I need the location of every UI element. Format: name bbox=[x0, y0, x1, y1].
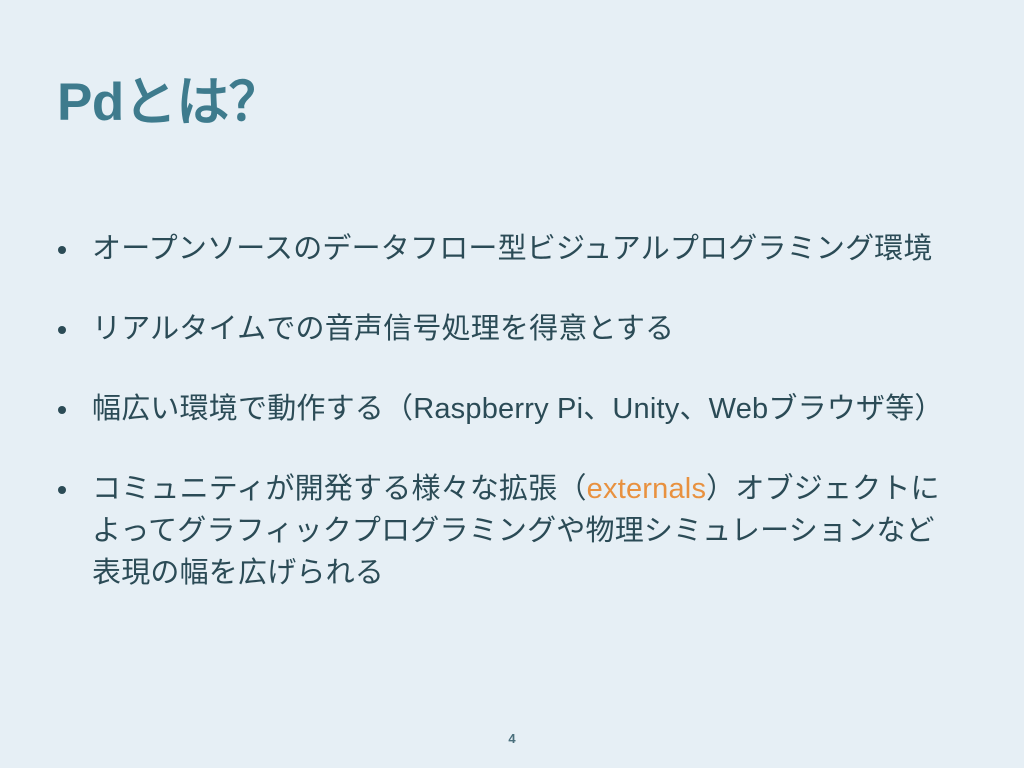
list-item: コミュニティが開発する様々な拡張（externals）オブジェクトに よってグラ… bbox=[50, 468, 980, 594]
bullet-dot-icon bbox=[58, 326, 66, 334]
list-item-line: よってグラフィックプログラミングや物理シミュレーションなど bbox=[92, 510, 980, 552]
bullet-dot-icon bbox=[58, 406, 66, 414]
bullet-list: オープンソースのデータフロー型ビジュアルプログラミング環境 リアルタイムでの音声… bbox=[50, 228, 980, 594]
externals-keyword: externals bbox=[587, 473, 706, 505]
page-title: Pdとは？ bbox=[57, 72, 281, 135]
list-item-text: リアルタイムでの音声信号処理を得意とする bbox=[92, 308, 980, 350]
page-number: 4 bbox=[0, 731, 1024, 746]
bullet-dot-icon bbox=[58, 246, 66, 254]
list-item: 幅広い環境で動作する（Raspberry Pi、Unity、Webブラウザ等） bbox=[50, 388, 980, 430]
list-item-line-pre: コミュニティが開発する様々な拡張（ bbox=[92, 473, 587, 505]
list-item-line: リアルタイムでの音声信号処理を得意とする bbox=[92, 308, 980, 350]
list-item-line: オープンソースのデータフロー型ビジュアルプログラミング環境 bbox=[92, 228, 980, 270]
list-item-text: オープンソースのデータフロー型ビジュアルプログラミング環境 bbox=[92, 228, 980, 270]
list-item: リアルタイムでの音声信号処理を得意とする bbox=[50, 308, 980, 350]
list-item-line: 幅広い環境で動作する（Raspberry Pi、Unity、Webブラウザ等） bbox=[92, 388, 980, 430]
bullet-dot-icon bbox=[58, 486, 66, 494]
list-item-line: 表現の幅を広げられる bbox=[92, 552, 980, 594]
list-item-text: コミュニティが開発する様々な拡張（externals）オブジェクトに よってグラ… bbox=[92, 468, 980, 594]
list-item-text: 幅広い環境で動作する（Raspberry Pi、Unity、Webブラウザ等） bbox=[92, 388, 980, 430]
list-item-line: コミュニティが開発する様々な拡張（externals）オブジェクトに bbox=[92, 468, 980, 510]
slide-root: Pdとは？ オープンソースのデータフロー型ビジュアルプログラミング環境 リアルタ… bbox=[0, 0, 1024, 768]
list-item: オープンソースのデータフロー型ビジュアルプログラミング環境 bbox=[50, 228, 980, 270]
list-item-line-post: ）オブジェクトに bbox=[706, 473, 940, 505]
